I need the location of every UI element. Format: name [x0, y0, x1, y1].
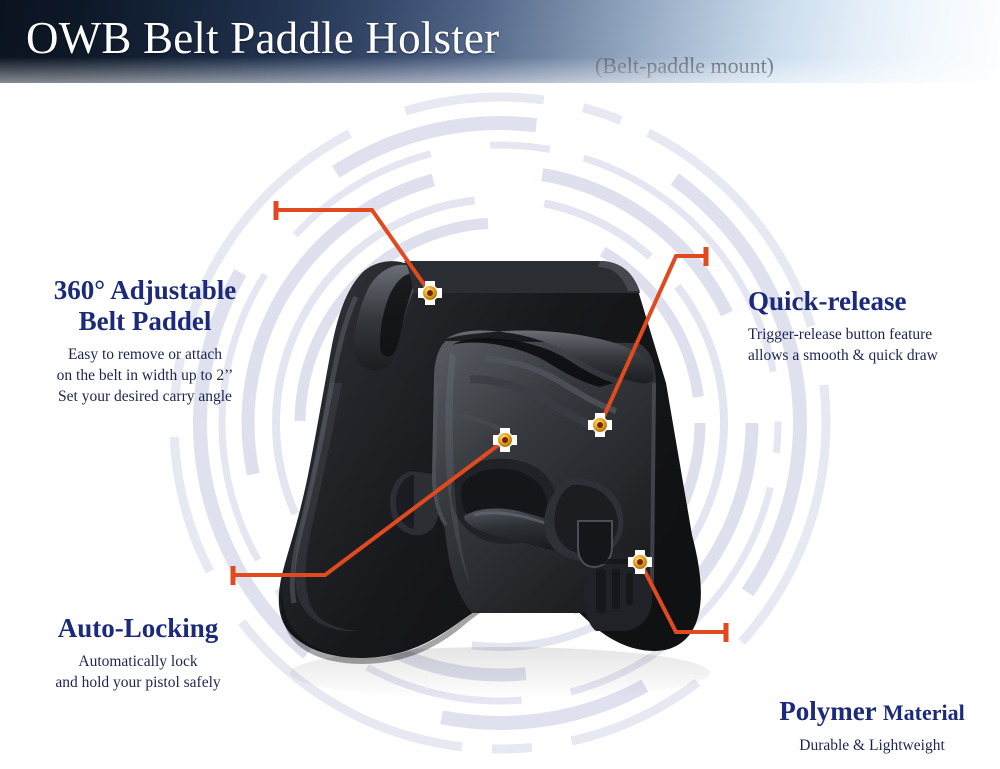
- callout-body-line2: and hold your pistol safely: [55, 674, 220, 691]
- callout-body-line3: Set your desired carry angle: [58, 388, 232, 405]
- header-banner: OWB Belt Paddle Holster (Belt-paddle mou…: [0, 0, 1000, 83]
- callout-body-line2: allows a smooth & quick draw: [748, 347, 938, 364]
- product-stage: 360° Adjustable Belt Paddel Easy to remo…: [0, 83, 1000, 769]
- callout-auto-locking: Auto-Locking Automatically lock and hold…: [22, 613, 254, 693]
- callout-heading: Auto-Locking: [22, 613, 254, 644]
- callout-heading: Polymer Material: [752, 696, 992, 728]
- callout-quick-release: Quick-release Trigger-release button fea…: [748, 286, 992, 366]
- infographic-page: OWB Belt Paddle Holster (Belt-paddle mou…: [0, 0, 1000, 769]
- callout-heading: 360° Adjustable Belt Paddel: [20, 275, 270, 337]
- callout-body-line2: on the belt in width up to 2’’: [57, 367, 234, 384]
- callout-body-line1: Durable & Lightweight: [799, 737, 945, 754]
- callout-body-line1: Automatically lock: [78, 653, 197, 670]
- page-subtitle: (Belt-paddle mount): [595, 52, 774, 80]
- callout-heading-line2: Material: [883, 700, 965, 725]
- callout-heading-line2: Belt Paddel: [79, 306, 212, 336]
- callout-heading-line1: Polymer: [779, 696, 876, 726]
- page-title: OWB Belt Paddle Holster: [26, 10, 499, 66]
- callout-heading: Quick-release: [748, 286, 992, 317]
- callout-adjustable-belt-paddle: 360° Adjustable Belt Paddel Easy to remo…: [20, 275, 270, 407]
- callout-heading-line1: 360° Adjustable: [54, 275, 237, 305]
- callout-body-line1: Trigger-release button feature: [748, 326, 932, 343]
- callout-body: Trigger-release button feature allows a …: [748, 324, 992, 366]
- callout-body: Easy to remove or attach on the belt in …: [20, 344, 270, 407]
- callout-body-line1: Easy to remove or attach: [68, 346, 222, 363]
- callout-body: Durable & Lightweight: [752, 735, 992, 756]
- callout-body: Automatically lock and hold your pistol …: [22, 651, 254, 693]
- callout-polymer-material: Polymer Material Durable & Lightweight: [752, 696, 992, 756]
